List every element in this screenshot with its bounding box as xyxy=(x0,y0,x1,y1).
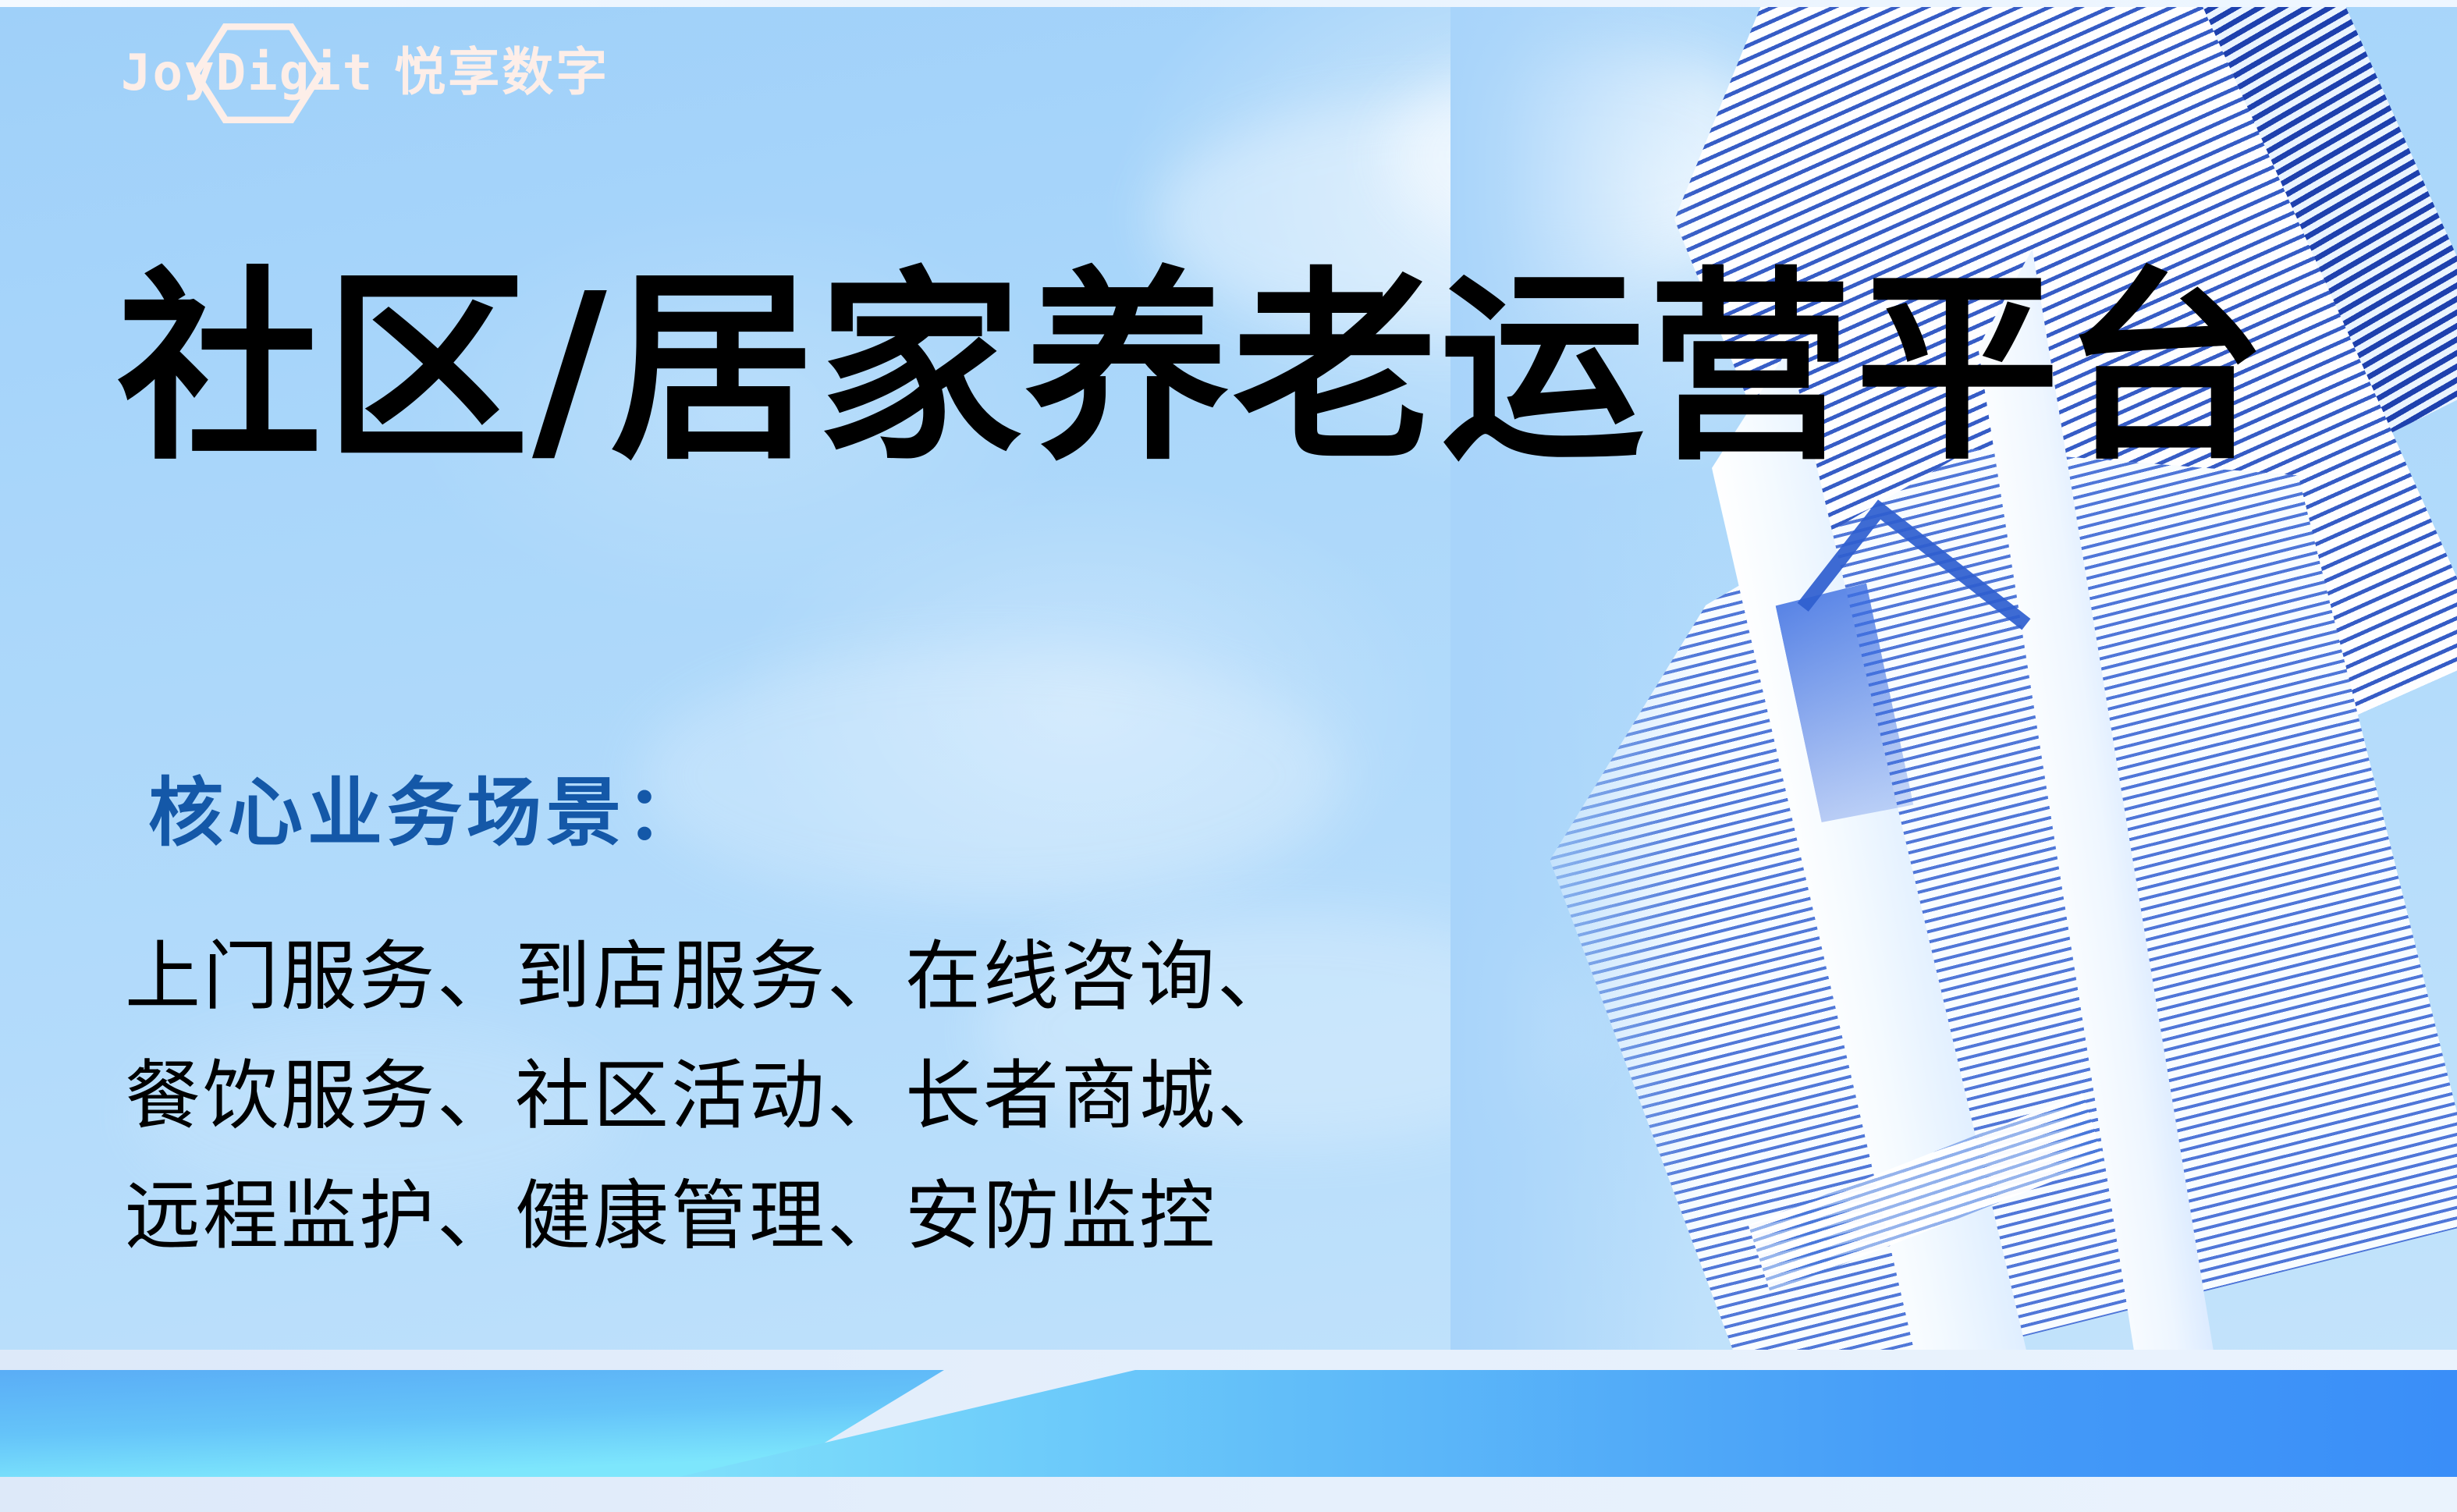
section-subheading: 核心业务场景： xyxy=(148,772,705,855)
scenario-line: 上门服务、到店服务、在线咨询、 xyxy=(125,917,1295,1036)
scenario-line: 餐饮服务、社区活动、长者商城、 xyxy=(125,1036,1295,1155)
photo-edge-fade xyxy=(1450,7,2457,1350)
skyscraper-building-photo xyxy=(1450,7,2457,1350)
top-edge-strip xyxy=(0,0,2457,7)
cloud-wisp xyxy=(640,647,1342,904)
scenario-line: 远程监护、健康管理、安防监控 xyxy=(125,1156,1295,1276)
bottom-banner xyxy=(0,1350,2457,1512)
page-title: 社区/居家养老运营平台 xyxy=(117,260,2271,478)
logo-wordmark-en: JoyDigit xyxy=(121,48,374,98)
scenario-list: 上门服务、到店服务、在线咨询、 餐饮服务、社区活动、长者商城、 远程监护、健康管… xyxy=(125,917,1295,1276)
logo-wordmark-cn: 悦享数字 xyxy=(394,47,609,98)
presentation-slide: JoyDigit 悦享数字 社区/居家养老运营平台 核心业务场景： 上门服务、到… xyxy=(0,0,2457,1512)
brand-logo: JoyDigit 悦享数字 xyxy=(121,22,609,123)
